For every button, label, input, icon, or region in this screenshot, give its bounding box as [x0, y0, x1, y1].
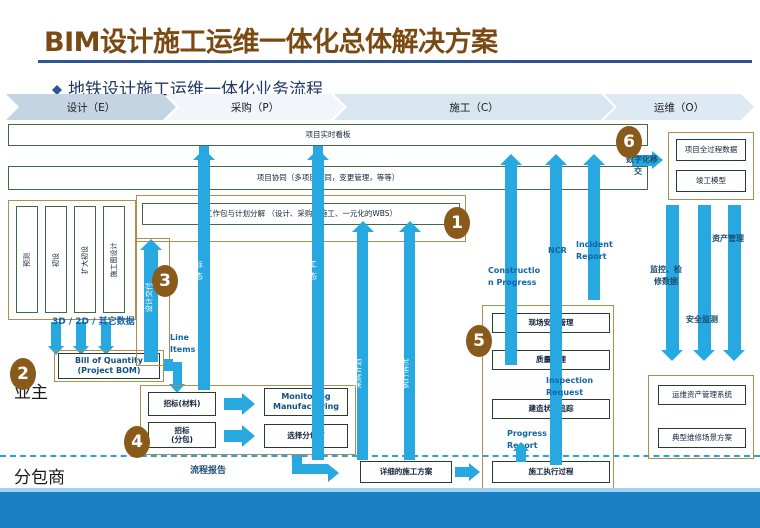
arrow-detail-elbow-head — [328, 464, 339, 482]
label-tender-status-1: 招标 — [187, 260, 203, 269]
badge-1[interactable]: 1 — [444, 207, 470, 239]
arrow-tender-to-monitoring-head — [242, 393, 255, 415]
box-tender-material: 招标(材料) — [148, 392, 216, 416]
box-monitoring-manufacturing: Monitoring Manufacturing — [264, 388, 348, 416]
box-bom-line2: (Project BOM) — [78, 366, 141, 376]
arrow-asset-mgmt-body — [728, 205, 741, 350]
box-detail-construction-plan: 详细的施工方案 — [360, 461, 452, 483]
label-3d-2d-data: 3D / 2D / 其它数据 — [52, 317, 135, 327]
arrow-purchase-plan-head — [352, 221, 374, 232]
design-phase-box-1: 初设 — [45, 206, 67, 313]
arrow-tender-to-select-body — [224, 430, 242, 442]
design-phase-label-3: 施工图设计 — [109, 242, 119, 277]
phase-chevron-operation[interactable]: 运维（O） — [604, 94, 754, 120]
arrow-construction-progress-body — [505, 165, 517, 365]
arrow-tender-to-monitoring-body — [224, 398, 242, 410]
lane-label-subcontractor: 分包商 — [14, 463, 65, 488]
arrow-monitor-repair-head — [661, 350, 683, 361]
slide-root: BIM设计施工运维一体化总体解决方案 地铁设计施工运维一体化业务流程 设计（E）… — [0, 0, 760, 528]
badge-5[interactable]: 5 — [466, 325, 492, 357]
label-line-items-1: Line — [170, 333, 189, 342]
label-digital-handover-2: 交 — [634, 167, 642, 176]
arrow-ncr-body — [550, 165, 562, 465]
label-line-items-2: Items — [170, 345, 195, 354]
design-phase-label-0: 预测 — [22, 253, 32, 267]
arrow-construction-progress-head — [500, 154, 522, 165]
arrow-line-items-down — [173, 362, 182, 384]
arrow-detail-to-exec-head — [469, 463, 480, 481]
badge-6[interactable]: 6 — [616, 126, 642, 158]
design-phase-box-2: 扩大初设 — [74, 206, 96, 313]
label-tender-status-2: 状态 — [187, 272, 203, 281]
arrow-ncr-head — [545, 154, 567, 165]
arrow-construct-status-body — [312, 160, 324, 460]
label-monitor-repair-1: 监控、检 — [650, 265, 682, 274]
arrow-exec-status-body — [404, 232, 415, 460]
label-safety-monitor: 安全监测 — [686, 315, 718, 324]
box-bom-line1: Bill of Quantity — [75, 356, 143, 366]
arrow-detail-elbow-h — [292, 464, 328, 474]
design-phase-label-2: 扩大初设 — [80, 246, 90, 274]
box-full-process-data: 项目全过程数据 — [676, 139, 746, 161]
arrow-design-delivery-head — [140, 239, 162, 250]
arrow-exec-status-head — [399, 221, 421, 232]
label-exec-status: 执行情况 — [400, 359, 411, 389]
box-tender-sub-line1: 招标 — [175, 426, 190, 435]
badge-3[interactable]: 3 — [152, 265, 178, 297]
arrow-progress-report-head — [513, 442, 529, 451]
arrow-asset-mgmt-head — [723, 350, 745, 361]
label-construction-progress-2: n Progress — [488, 278, 536, 287]
page-title: BIM设计施工运维一体化总体解决方案 — [44, 20, 498, 59]
box-as-built-model: 竣工模型 — [676, 170, 746, 192]
label-purchase-plan: 采购计划 — [353, 359, 364, 389]
box-monitoring-line2: Manufacturing — [273, 402, 339, 412]
phase-chevron-bar: 设计（E） 采购（P） 施工（C） 运维（O） — [6, 94, 754, 120]
box-tender-sub-line2: (分包) — [171, 435, 193, 444]
badge-4[interactable]: 4 — [124, 426, 150, 458]
arrow-dashboard-feed-2 — [313, 146, 323, 162]
diamond-bullet-icon — [52, 80, 62, 90]
label-construct-status-2: 状态 — [301, 272, 317, 281]
band-dashboard-label: 项目实时看板 — [8, 124, 648, 146]
title-underline — [38, 60, 752, 63]
label-asset-management: 资产管理 — [712, 234, 744, 243]
label-monitor-repair-2: 修数据 — [654, 277, 678, 286]
label-inspection-request-2: Request — [546, 388, 583, 397]
arrow-detail-to-exec-body — [455, 467, 469, 477]
phase-chevron-design[interactable]: 设计（E） — [6, 94, 176, 120]
box-om-asset-system: 运维资产管理系统 — [658, 385, 746, 405]
label-progress-report-1: Progress — [507, 429, 547, 438]
design-phase-label-1: 初设 — [51, 253, 61, 267]
label-process-report: 流程报告 — [190, 466, 226, 476]
arrow-purchase-plan-body — [357, 232, 368, 460]
label-inspection-request-1: Inspection — [546, 376, 593, 385]
design-phase-box-0: 预测 — [16, 206, 38, 313]
box-typical-repair-plan: 典型维修场景方案 — [658, 428, 746, 448]
arrow-tender-to-select-head — [242, 425, 255, 447]
arrow-dashboard-feed-1 — [199, 146, 209, 162]
label-incident-report-2: Report — [576, 252, 607, 261]
box-tender-subcontract: 招标 (分包) — [148, 422, 216, 448]
phase-chevron-procurement[interactable]: 采购（P） — [166, 94, 344, 120]
arrow-progress-report-body — [516, 450, 526, 462]
label-incident-report-1: Incident — [576, 240, 613, 249]
label-construction-progress-1: Constructio — [488, 266, 540, 275]
box-select-subcontractor: 选择分包商 — [264, 424, 348, 448]
arrow-safety-monitor-head — [693, 350, 715, 361]
arrow-incident-report-head — [583, 154, 605, 165]
arrow-incident-report-body — [588, 165, 600, 300]
design-phase-box-3: 施工图设计 — [103, 206, 125, 313]
arrow-safety-monitor-body — [698, 205, 711, 350]
badge-2[interactable]: 2 — [10, 358, 36, 390]
bottom-bar — [0, 492, 760, 528]
label-construct-status-1: 施工 — [301, 260, 317, 269]
phase-chevron-construction[interactable]: 施工（C） — [334, 94, 614, 120]
swimlane-divider — [0, 455, 760, 457]
label-ncr: NCR — [548, 246, 567, 255]
